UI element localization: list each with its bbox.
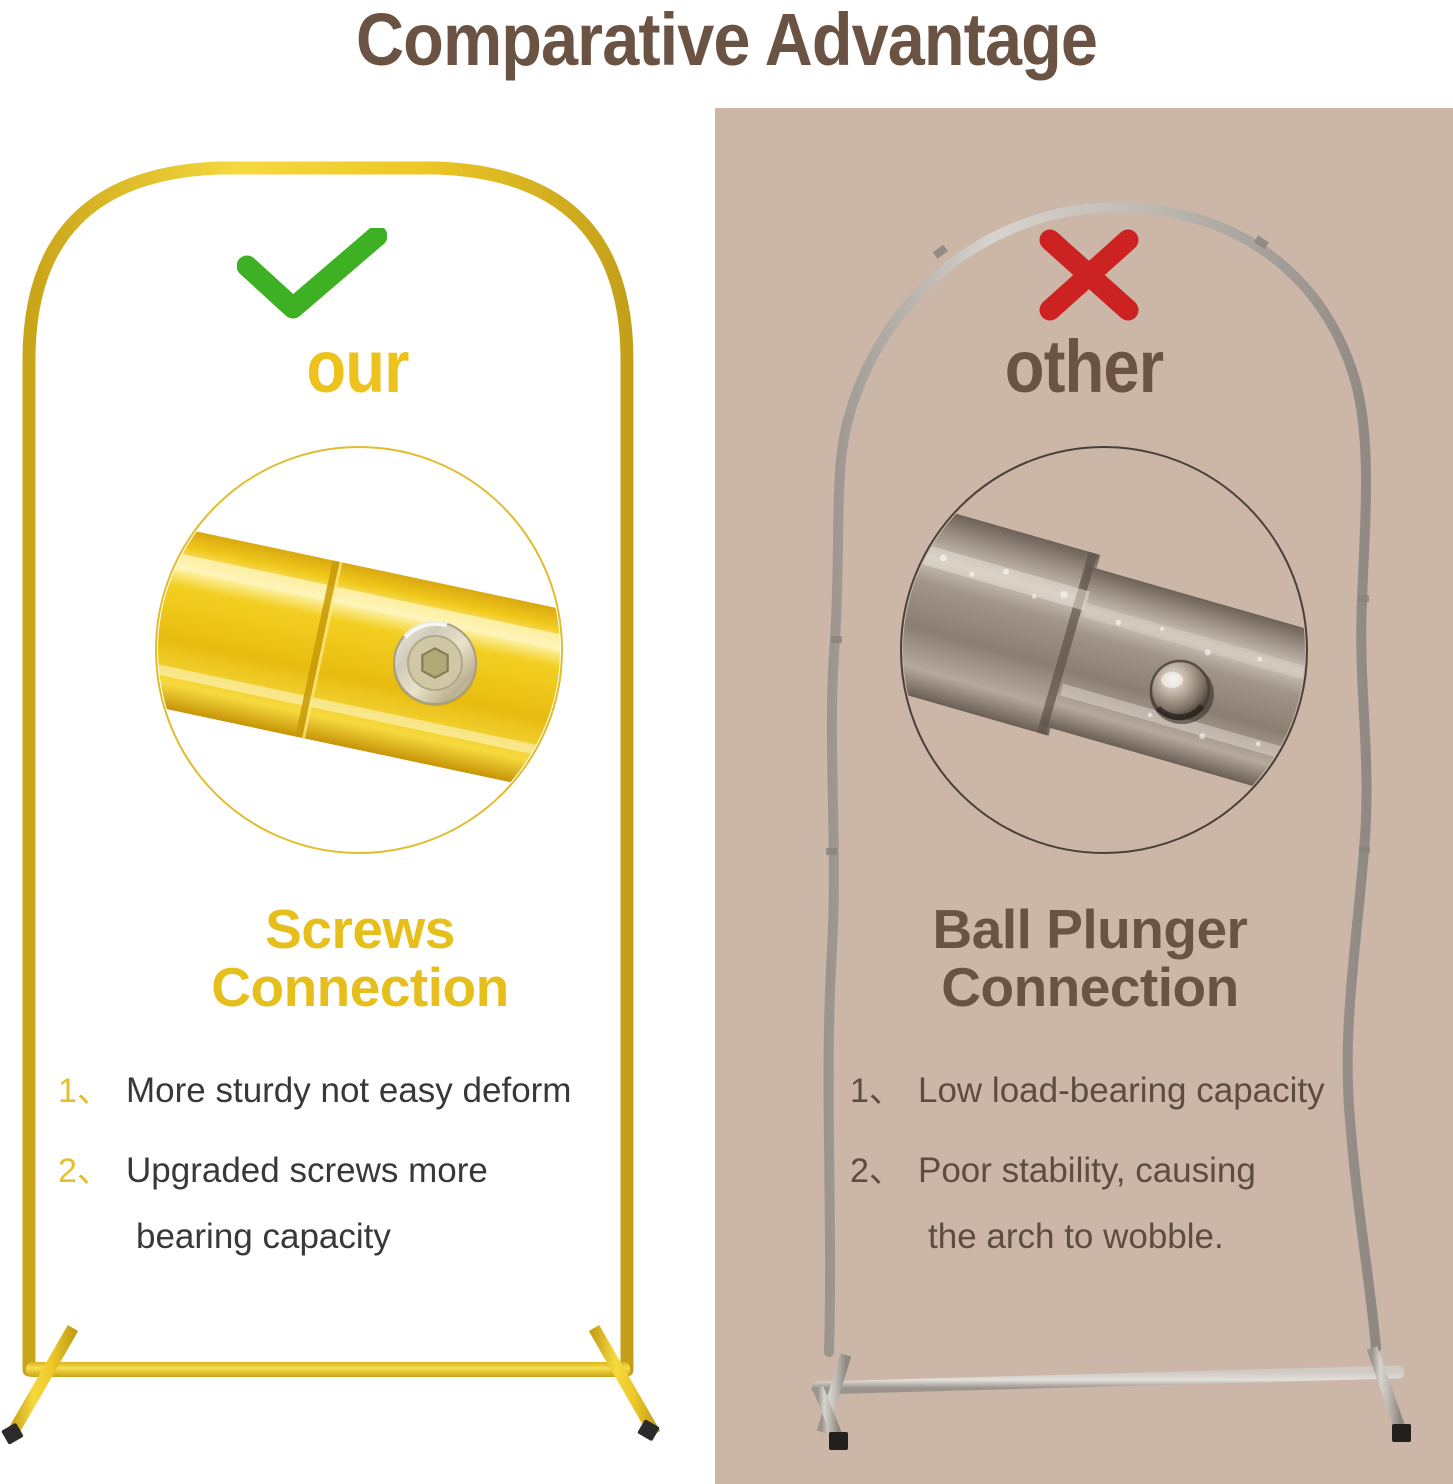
red-x-icon [1036, 228, 1142, 322]
our-label: our [43, 330, 672, 404]
left-heading-line1: Screws [30, 900, 690, 958]
list-item: 2、 Upgraded screws more [58, 1152, 678, 1190]
list-item: 2、 Poor stability, causing [850, 1152, 1410, 1190]
bullet-text: Low load-bearing capacity [918, 1072, 1410, 1110]
right-heading-line2: Connection [790, 958, 1390, 1016]
bullet-text: More sturdy not easy deform [126, 1072, 678, 1110]
page-title: Comparative Advantage [73, 0, 1381, 82]
bullet-continuation: the arch to wobble. [928, 1218, 1410, 1256]
yellow-pole-screw-photo [155, 446, 563, 854]
bullet-number: 2、 [850, 1152, 918, 1190]
right-panel-bullet-list: 1、 Low load-bearing capacity 2、 Poor sta… [850, 1072, 1410, 1296]
bullet-continuation: bearing capacity [136, 1218, 678, 1256]
left-panel-heading: Screws Connection [30, 900, 690, 1016]
green-check-icon [237, 228, 387, 320]
left-panel-bullet-list: 1、 More sturdy not easy deform 2、 Upgrad… [58, 1072, 678, 1296]
bullet-number: 2、 [58, 1152, 126, 1190]
bullet-number: 1、 [850, 1072, 918, 1110]
comparison-infographic: Comparative Advantage our other [0, 0, 1453, 1484]
bullet-text: Poor stability, causing [918, 1152, 1410, 1190]
bullet-text: Upgraded screws more [126, 1152, 678, 1190]
other-label: other [759, 330, 1408, 404]
left-heading-line2: Connection [30, 958, 690, 1016]
right-heading-line1: Ball Plunger [790, 900, 1390, 958]
gray-pole-ball-plunger-photo [900, 446, 1308, 854]
list-item: 1、 Low load-bearing capacity [850, 1072, 1410, 1110]
right-panel-heading: Ball Plunger Connection [790, 900, 1390, 1016]
bullet-number: 1、 [58, 1072, 126, 1110]
list-item: 1、 More sturdy not easy deform [58, 1072, 678, 1110]
